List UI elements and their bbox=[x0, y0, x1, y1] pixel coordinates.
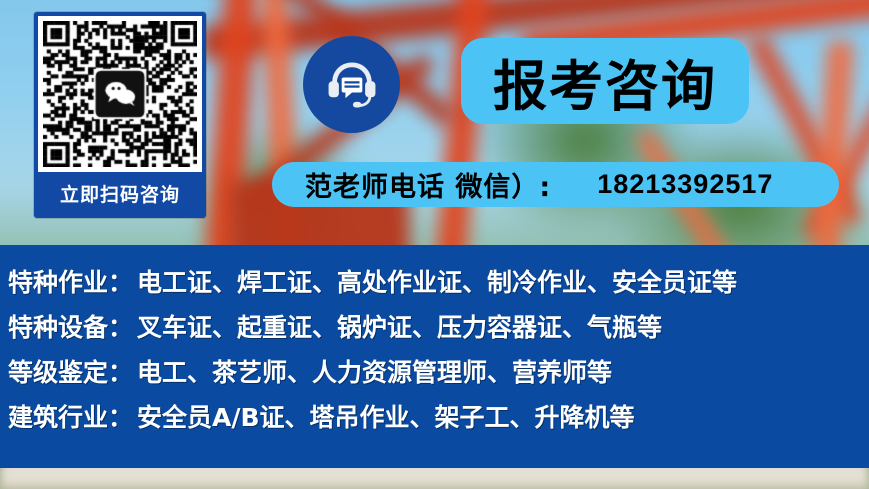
row-value: 电工证、焊工证、高处作业证、制冷作业、安全员证等 bbox=[137, 263, 737, 299]
panel-row: 建筑行业： 安全员A/B证、塔吊作业、架子工、升降机等 bbox=[8, 398, 869, 443]
phone-label: 范老师电话 微信）: bbox=[305, 165, 551, 204]
certificate-list-panel: 特种作业： 电工证、焊工证、高处作业证、制冷作业、安全员证等 特种设备： 叉车证… bbox=[0, 245, 869, 468]
qr-caption: 立即扫码咨询 bbox=[60, 172, 180, 214]
panel-row: 特种设备： 叉车证、起重证、锅炉证、压力容器证、气瓶等 bbox=[8, 308, 869, 353]
qr-code-image bbox=[38, 16, 202, 172]
wechat-qr-code-icon bbox=[43, 21, 197, 167]
panel-row: 特种作业： 电工证、焊工证、高处作业证、制冷作业、安全员证等 bbox=[8, 263, 869, 308]
row-value: 叉车证、起重证、锅炉证、压力容器证、气瓶等 bbox=[137, 308, 662, 344]
phone-number: 18213392517 bbox=[597, 169, 773, 200]
promo-poster: 立即扫码咨询 报考咨询 范老师电话 微信）: 18213392517 特种作业：… bbox=[0, 0, 869, 489]
title-pill: 报考咨询 bbox=[461, 38, 749, 124]
headset-chat-icon bbox=[303, 36, 400, 133]
title-text: 报考咨询 bbox=[493, 42, 717, 121]
phone-pill[interactable]: 范老师电话 微信）: 18213392517 bbox=[272, 162, 839, 207]
row-label: 特种作业： bbox=[8, 263, 133, 299]
row-value: 电工、茶艺师、人力资源管理师、营养师等 bbox=[137, 353, 612, 389]
qr-code-card[interactable]: 立即扫码咨询 bbox=[34, 12, 206, 218]
row-label: 建筑行业： bbox=[8, 398, 133, 434]
row-label: 特种设备： bbox=[8, 308, 133, 344]
panel-row: 等级鉴定： 电工、茶艺师、人力资源管理师、营养师等 bbox=[8, 353, 869, 398]
row-label: 等级鉴定： bbox=[8, 353, 133, 389]
row-value: 安全员A/B证、塔吊作业、架子工、升降机等 bbox=[137, 398, 635, 434]
